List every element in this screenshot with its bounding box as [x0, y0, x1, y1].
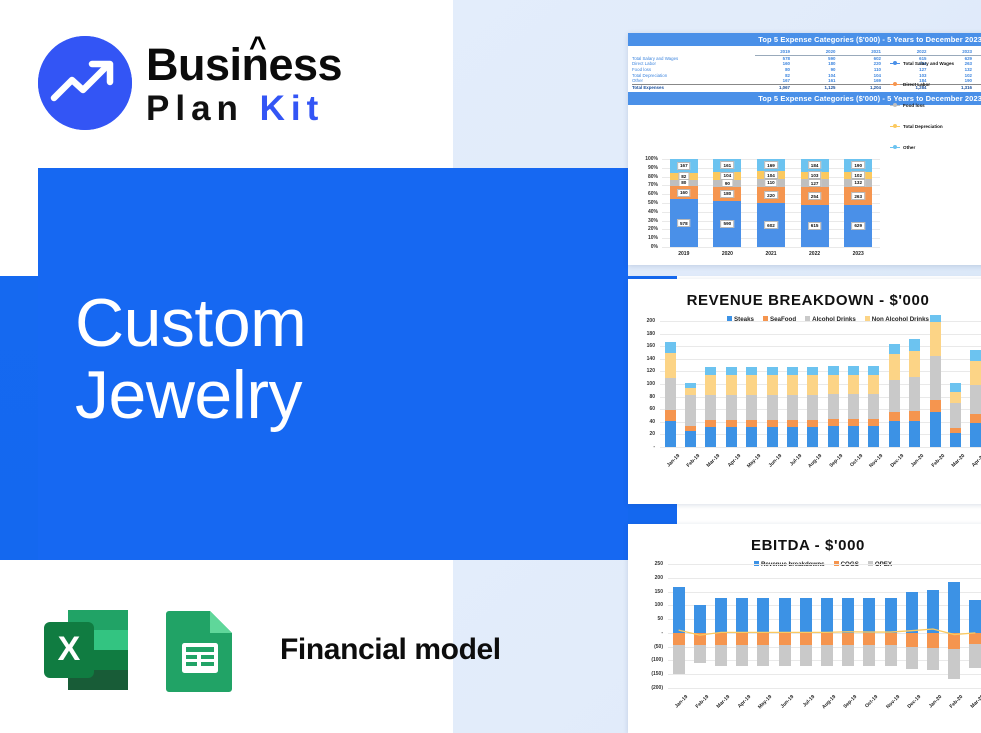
stacked-bar: [930, 315, 941, 447]
y-axis-tick: -: [628, 630, 663, 636]
y-axis-tick: 50: [628, 616, 663, 622]
bar-segment: [705, 367, 716, 375]
bar-segment: [705, 427, 716, 447]
bar-segment: [807, 367, 818, 375]
bar-segment: 160: [670, 186, 698, 199]
y-axis-tick: 120: [628, 368, 655, 374]
bar-segment: [807, 427, 818, 447]
bar-segment: [889, 354, 900, 379]
bar-segment: [950, 403, 961, 428]
bar-segment: [868, 375, 879, 395]
growth-arrow-circle-icon: [38, 36, 132, 130]
y-axis-tick: 100: [628, 381, 655, 387]
brand-logo: Business ^ Plan Kit: [38, 36, 342, 130]
bar-segment: [705, 395, 716, 420]
y-axis-tick: 60: [628, 406, 655, 412]
gridline: [668, 674, 981, 675]
bar-segment: [970, 423, 981, 447]
bar-negative: [800, 633, 812, 645]
bar-value-label: 254: [808, 192, 822, 200]
expense-chart-legend[interactable]: Total Salary and WagesDirect LaborFood l…: [890, 53, 981, 158]
bar-segment: [950, 392, 961, 403]
bar-negative: [800, 645, 812, 666]
bar-value-label: 263: [851, 192, 865, 200]
bar-negative: [694, 633, 706, 645]
y-axis-tick: 200: [628, 575, 663, 581]
y-axis-tick: -: [628, 444, 655, 450]
y-axis-tick: (150): [628, 671, 663, 677]
bar-segment: [848, 419, 859, 426]
bar-segment: [787, 420, 798, 427]
bar-segment: 167: [670, 159, 698, 173]
bar-negative: [863, 645, 875, 666]
bar-positive: [842, 598, 854, 633]
bar-segment: [726, 427, 737, 447]
legend-item[interactable]: Total Salary and Wages: [890, 53, 981, 74]
bar-value-label: 602: [764, 221, 778, 229]
bar-segment: [970, 361, 981, 385]
legend-item[interactable]: Total Depreciation: [890, 116, 981, 137]
bar-segment: [889, 421, 900, 447]
legend-label: Food loss: [903, 103, 925, 108]
x-axis-tick: Jan-19: [665, 694, 689, 718]
bar-positive: [906, 592, 918, 633]
bar-segment: [848, 394, 859, 419]
bar-value-label: 169: [764, 161, 778, 169]
logo-word-plan: Plan: [146, 89, 244, 128]
bar-segment: [848, 366, 859, 374]
bar-negative: [757, 633, 769, 645]
bar-positive: [694, 605, 706, 633]
bar-segment: [807, 420, 818, 427]
bar-segment: [746, 367, 757, 375]
bar-negative: [885, 633, 897, 645]
bar-segment: [665, 378, 676, 410]
bar-value-label: 161: [721, 161, 735, 169]
gridline: [668, 578, 981, 579]
bar-segment: 220: [757, 187, 785, 203]
bar-negative: [885, 645, 897, 666]
bar-positive: [863, 598, 875, 633]
svg-text:X: X: [58, 630, 81, 668]
y-axis-tick: 140: [628, 356, 655, 362]
bar-segment: [868, 419, 879, 426]
y-axis-tick: 40: [628, 419, 655, 425]
bar-segment: 110: [757, 179, 785, 187]
stacked-bar: [746, 367, 757, 447]
bar-negative: [715, 645, 727, 666]
logo-word-business: Business: [146, 39, 342, 90]
bar-segment: 103: [801, 172, 829, 179]
logo-circumflex-icon: ^: [249, 33, 266, 63]
legend-label: Other: [903, 145, 915, 150]
x-axis-tick: Aug-19: [813, 694, 837, 718]
bar-segment: [767, 427, 778, 447]
bar-value-label: 132: [851, 179, 865, 187]
y-axis-tick: (50): [628, 644, 663, 650]
legend-label: Direct Labor: [903, 82, 930, 87]
bar-positive: [757, 598, 769, 633]
stacked-bar: 190102132263629: [844, 159, 872, 247]
chart-card-revenue-breakdown[interactable]: REVENUE BREAKDOWN - $'000 SteaksSeaFoodA…: [628, 279, 981, 504]
legend-label: Total Depreciation: [903, 124, 943, 129]
y-axis-tick: 40%: [628, 209, 658, 215]
y-axis-tick: 160: [628, 343, 655, 349]
revenue-chart-plot: 20018016014012010080604020-Jan-19Feb-19M…: [628, 315, 981, 504]
chart-card-expense-categories[interactable]: Top 5 Expense Categories ($'000) - 5 Yea…: [628, 33, 981, 265]
bar-negative: [821, 645, 833, 666]
x-axis-tick: Oct-19: [856, 694, 880, 718]
bar-segment: [889, 412, 900, 421]
stacked-bar: [807, 367, 818, 447]
bar-negative: [779, 645, 791, 666]
bar-segment: [930, 356, 941, 400]
bar-positive: [736, 598, 748, 633]
bar-segment: [848, 426, 859, 447]
bar-positive: [715, 598, 727, 633]
stacked-bar: 184103127254615: [801, 159, 829, 247]
bar-segment: [665, 410, 676, 421]
google-sheets-icon: [156, 608, 250, 692]
bar-value-label: 629: [851, 222, 865, 230]
bar-segment: [909, 421, 920, 447]
stacked-bar: 1678280160578: [670, 159, 698, 247]
bar-positive: [885, 598, 897, 633]
y-axis-tick: 180: [628, 331, 655, 337]
x-axis-tick: 2019: [670, 251, 698, 257]
bar-segment: 104: [757, 171, 785, 179]
bar-negative: [715, 633, 727, 645]
bar-negative: [906, 633, 918, 647]
bar-segment: [868, 366, 879, 374]
bar-value-label: 615: [808, 222, 822, 230]
bar-segment: 80: [670, 180, 698, 187]
bar-segment: [909, 351, 920, 377]
y-axis-tick: 50%: [628, 200, 658, 206]
bar-segment: [726, 395, 737, 420]
x-axis-tick: 2021: [757, 251, 785, 257]
y-axis-tick: 80%: [628, 174, 658, 180]
x-axis-tick: Jul-19: [792, 694, 816, 718]
bar-segment: 90: [713, 180, 741, 187]
bar-segment: [930, 315, 941, 322]
bar-segment: [807, 375, 818, 395]
bar-segment: 127: [801, 179, 829, 188]
bar-segment: [930, 322, 941, 356]
bar-negative: [906, 647, 918, 669]
stacked-bar: [665, 342, 676, 447]
legend-swatch: [890, 63, 900, 65]
y-axis-tick: 30%: [628, 218, 658, 224]
bar-segment: [665, 353, 676, 378]
stacked-bar: [970, 350, 981, 447]
bar-segment: [828, 375, 839, 395]
bar-segment: [685, 395, 696, 427]
y-axis-tick: 70%: [628, 182, 658, 188]
x-axis-tick: May-19: [750, 694, 774, 718]
bar-negative: [927, 648, 939, 671]
bar-value-label: 180: [721, 190, 735, 198]
x-axis-tick: Jun-19: [771, 694, 795, 718]
bar-segment: [726, 367, 737, 375]
stacked-bar: [950, 383, 961, 447]
format-badges: X Financial model: [40, 608, 501, 692]
y-axis-tick: 10%: [628, 235, 658, 241]
bar-segment: [909, 377, 920, 411]
x-axis-tick: 2023: [844, 251, 872, 257]
stacked-bar: [889, 344, 900, 447]
bar-negative: [969, 644, 981, 667]
bar-negative: [948, 649, 960, 679]
stacked-bar: [848, 366, 859, 447]
bar-negative: [842, 645, 854, 666]
x-axis-tick: Mar-19: [707, 694, 731, 718]
bar-segment: 132: [844, 179, 872, 188]
bar-segment: [746, 375, 757, 395]
bar-segment: [746, 395, 757, 420]
bar-value-label: 160: [677, 189, 691, 197]
logo-line-plan-kit: Plan Kit: [146, 91, 342, 126]
stacked-bar: [767, 367, 778, 447]
bar-segment: [705, 375, 716, 395]
y-axis-tick: 0%: [628, 244, 658, 250]
bar-segment: 578: [670, 199, 698, 247]
bar-segment: [909, 339, 920, 350]
stacked-bar: [705, 367, 716, 447]
bar-segment: [909, 411, 920, 420]
bar-segment: [868, 394, 879, 419]
stacked-bar: 16110490180590: [713, 159, 741, 247]
bar-segment: [705, 420, 716, 427]
bar-segment: [828, 419, 839, 426]
bar-value-label: 104: [764, 171, 778, 179]
stacked-bar: [909, 339, 920, 447]
bar-segment: 615: [801, 205, 829, 247]
y-axis-tick: 20: [628, 431, 655, 437]
bar-segment: 184: [801, 159, 829, 172]
y-axis-tick: 150: [628, 589, 663, 595]
stacked-bar: [726, 367, 737, 447]
bar-value-label: 578: [677, 219, 691, 227]
bar-negative: [842, 633, 854, 645]
legend-item[interactable]: Other: [890, 137, 981, 158]
stacked-bar: [685, 383, 696, 447]
bar-segment: 169: [757, 159, 785, 171]
bar-positive: [779, 598, 791, 633]
stacked-bar: [868, 366, 879, 447]
bar-positive: [800, 598, 812, 633]
y-axis-tick: 200: [628, 318, 655, 324]
bar-segment: [665, 421, 676, 447]
bar-segment: [848, 375, 859, 395]
bar-segment: [889, 380, 900, 413]
bar-negative: [969, 633, 981, 645]
gridline: [660, 447, 981, 448]
bar-segment: 102: [844, 172, 872, 179]
bar-value-label: 590: [721, 220, 735, 228]
bar-segment: 629: [844, 205, 872, 247]
stacked-bar: [828, 366, 839, 447]
microsoft-excel-icon: X: [40, 608, 134, 692]
bar-segment: [950, 433, 961, 447]
page-title-line-1: Custom: [75, 287, 306, 359]
bar-segment: 190: [844, 159, 872, 172]
bar-segment: [868, 426, 879, 447]
bar-negative: [736, 645, 748, 666]
bar-segment: [787, 395, 798, 420]
gridline: [662, 247, 880, 248]
bar-segment: [726, 420, 737, 427]
chart-card-ebitda[interactable]: EBITDA - $'000 Revenue breakdownsCOGSOPE…: [628, 524, 981, 733]
expense-table-banner: Top 5 Expense Categories ($'000) - 5 Yea…: [628, 33, 981, 46]
bar-segment: [767, 367, 778, 375]
bar-negative: [948, 633, 960, 650]
bar-positive: [673, 587, 685, 633]
bar-positive: [969, 600, 981, 633]
bar-segment: [807, 395, 818, 420]
x-axis-tick: 2020: [713, 251, 741, 257]
y-axis-tick: (100): [628, 657, 663, 663]
bar-segment: 602: [757, 203, 785, 247]
bar-negative: [863, 633, 875, 645]
logo-line-business: Business ^: [146, 42, 342, 87]
bar-negative: [673, 633, 685, 645]
y-axis-tick: 60%: [628, 191, 658, 197]
bar-negative: [694, 645, 706, 663]
bar-segment: [970, 414, 981, 423]
bar-negative: [821, 633, 833, 645]
ebitda-chart-plot: 25020015010050-(50)(100)(150)(200)Jan-19…: [628, 558, 981, 733]
bar-segment: [767, 420, 778, 427]
revenue-chart-title: REVENUE BREAKDOWN - $'000: [628, 292, 981, 309]
x-axis-tick: Feb-19: [686, 694, 710, 718]
legend-item[interactable]: Direct Labor: [890, 74, 981, 95]
bar-segment: 590: [713, 201, 741, 247]
legend-swatch: [890, 126, 900, 128]
bar-value-label: 184: [808, 161, 822, 169]
bar-segment: [828, 366, 839, 374]
y-axis-tick: 20%: [628, 226, 658, 232]
bar-negative: [779, 633, 791, 645]
x-axis-tick: Dec-19: [898, 694, 922, 718]
gridline: [668, 564, 981, 565]
bar-segment: 254: [801, 187, 829, 204]
bar-segment: 180: [713, 187, 741, 201]
bar-value-label: 110: [764, 179, 777, 187]
bar-segment: [787, 375, 798, 395]
stacked-bar: [787, 367, 798, 447]
y-axis-tick: 100%: [628, 156, 658, 162]
bar-segment: [787, 427, 798, 447]
bar-value-label: 127: [808, 179, 822, 187]
x-axis-tick: Nov-19: [877, 694, 901, 718]
bar-value-label: 190: [851, 161, 865, 169]
bar-segment: [970, 350, 981, 361]
bar-segment: [767, 395, 778, 420]
legend-label: Total Salary and Wages: [903, 61, 954, 66]
stacked-bar: 169104110220602: [757, 159, 785, 247]
x-axis-tick: Feb-20: [940, 694, 964, 718]
bar-segment: [726, 375, 737, 395]
y-axis-tick: (200): [628, 685, 663, 691]
y-axis-tick: 90%: [628, 165, 658, 171]
bar-negative: [736, 633, 748, 645]
ebitda-chart-title: EBITDA - $'000: [628, 537, 981, 554]
bar-segment: [970, 385, 981, 414]
x-axis-tick: Apr-19: [728, 694, 752, 718]
bar-segment: [828, 426, 839, 447]
y-axis-tick: 80: [628, 394, 655, 400]
bar-segment: [767, 375, 778, 395]
format-label: Financial model: [280, 633, 501, 667]
legend-swatch: [890, 84, 900, 86]
bar-segment: [950, 383, 961, 391]
legend-swatch: [890, 105, 900, 107]
bar-value-label: 220: [764, 191, 778, 199]
bar-segment: [665, 342, 676, 353]
x-axis-tick: Sep-19: [834, 694, 858, 718]
logo-word-kit: Kit: [260, 89, 325, 128]
bar-positive: [927, 590, 939, 633]
legend-item[interactable]: Food loss: [890, 95, 981, 116]
bar-negative: [927, 633, 939, 648]
bar-positive: [948, 582, 960, 633]
bar-segment: [787, 367, 798, 375]
expense-chart-plot: 100%90%80%70%60%50%40%30%20%10%0%1678280…: [628, 155, 981, 265]
bar-segment: [889, 344, 900, 355]
y-axis-tick: 250: [628, 561, 663, 567]
bar-segment: [828, 394, 839, 419]
bar-segment: 263: [844, 187, 872, 205]
bar-positive: [821, 598, 833, 633]
bar-segment: [746, 427, 757, 447]
y-axis-tick: 100: [628, 602, 663, 608]
bar-segment: [930, 412, 941, 447]
gridline: [668, 688, 981, 689]
bar-segment: 161: [713, 159, 741, 172]
bar-value-label: 167: [677, 162, 691, 170]
page-title: Custom Jewelry: [75, 287, 306, 431]
x-axis-tick: Jan-20: [919, 694, 943, 718]
x-axis-tick: 2022: [801, 251, 829, 257]
bar-segment: [685, 431, 696, 447]
bar-negative: [757, 645, 769, 666]
bar-negative: [673, 645, 685, 673]
bar-segment: [746, 420, 757, 427]
bar-segment: [930, 400, 941, 413]
legend-swatch: [890, 147, 900, 149]
page-title-line-2: Jewelry: [75, 359, 306, 431]
